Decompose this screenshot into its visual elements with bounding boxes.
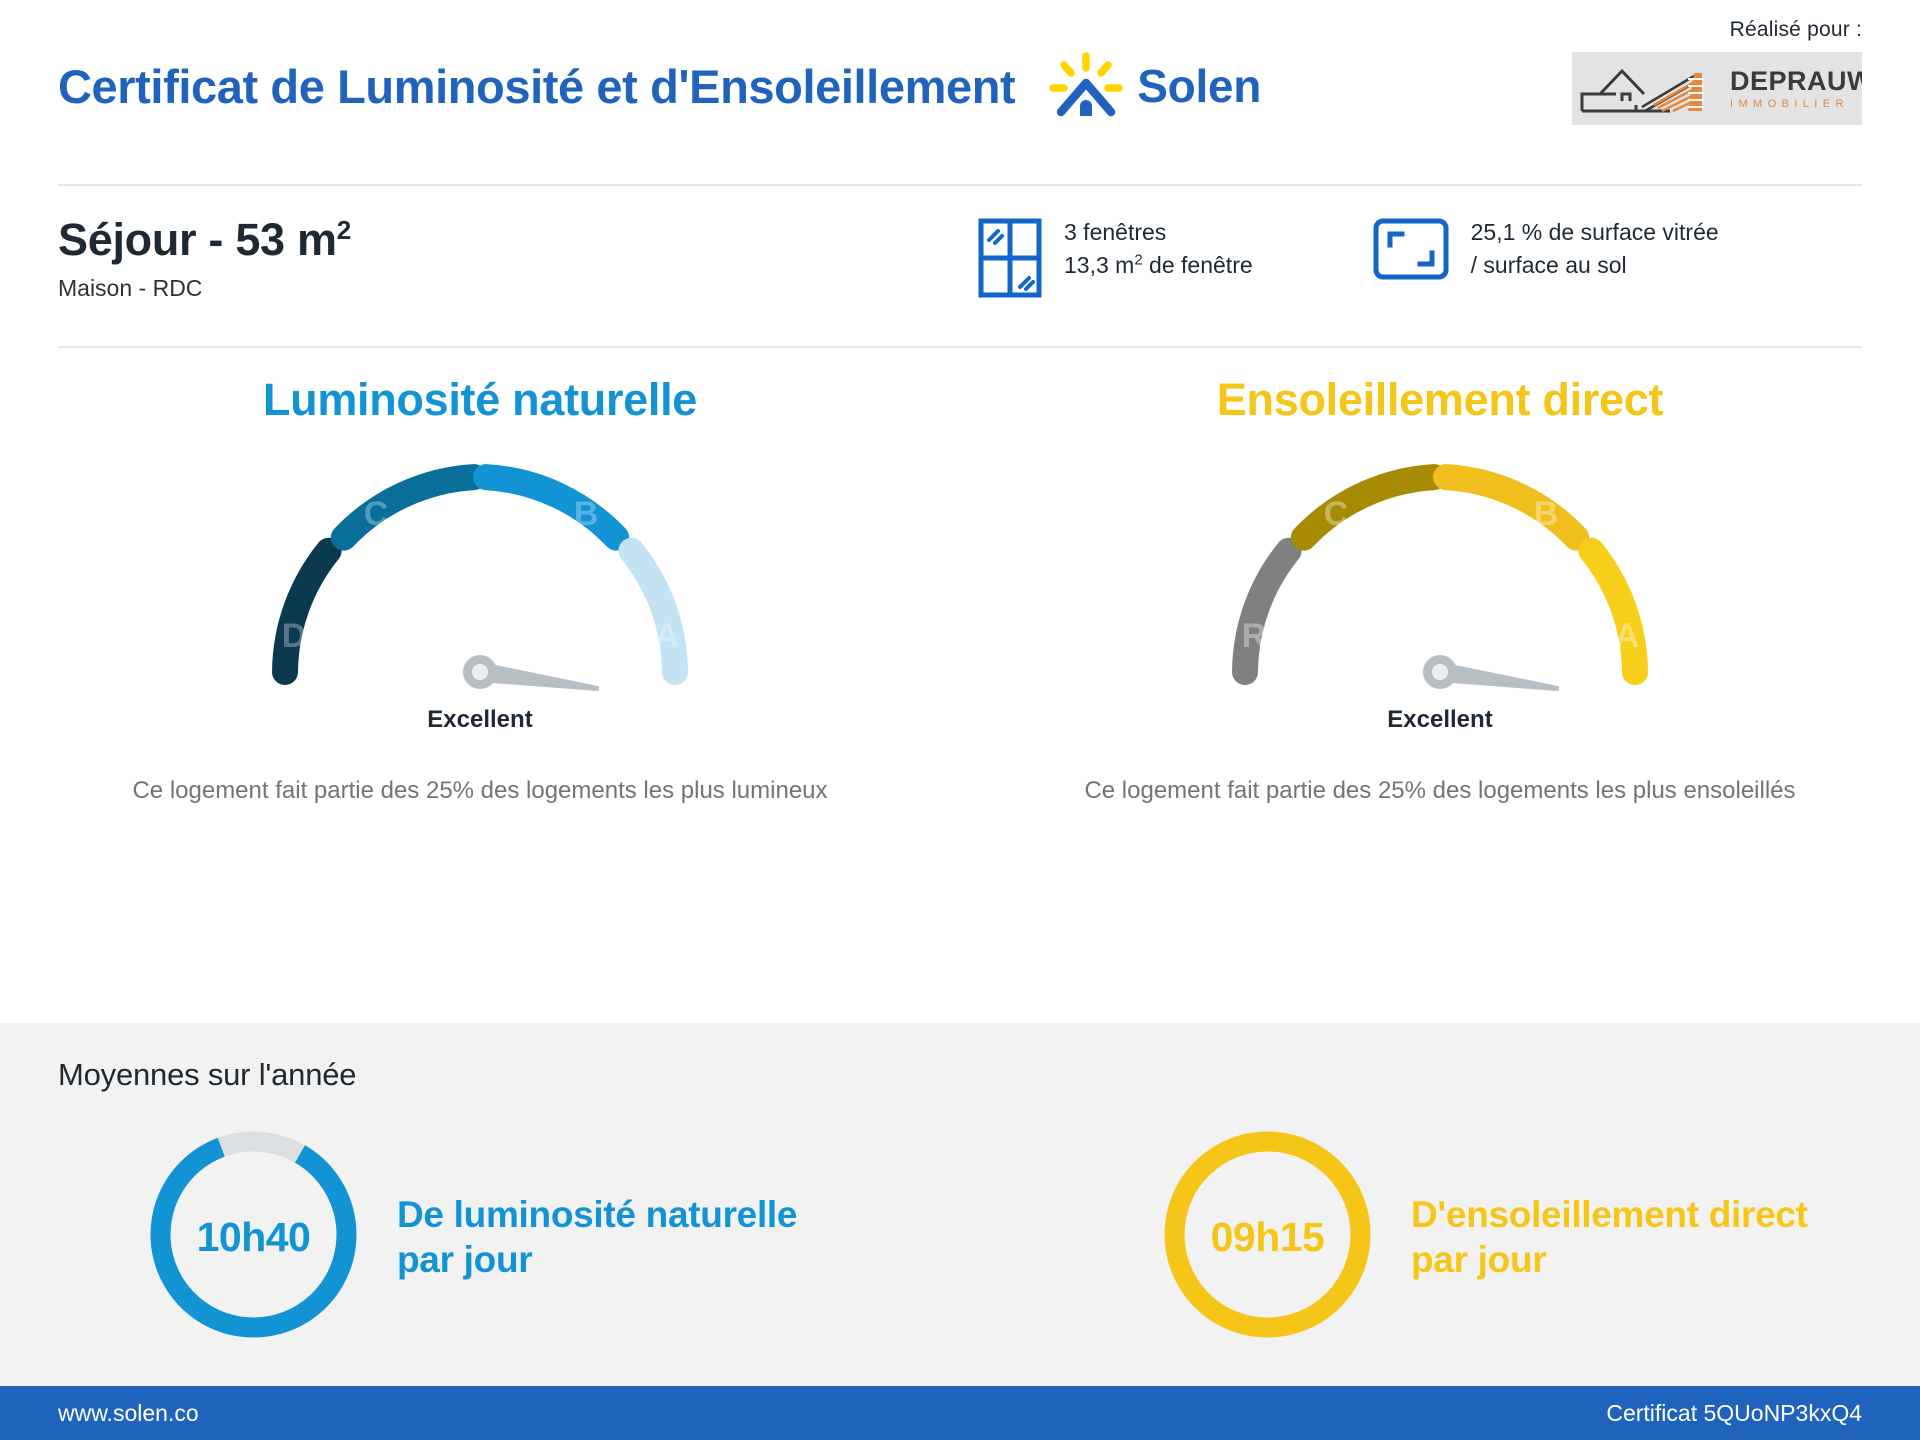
gauge-luminosite-description: Ce logement fait partie des 25% des loge… [100,772,860,809]
donut-ensoleillement-value: 09h15 [1160,1127,1375,1347]
glazing-ratio-stat: 25,1 % de surface vitrée / surface au so… [1373,216,1719,283]
gauge-ensoleillement: Ensoleillement direct R C B A Excellent … [960,374,1920,908]
averages-section: Moyennes sur l'année 10h40 De luminosité… [0,1023,1920,1386]
svg-text:C: C [1324,495,1349,533]
property-summary: Séjour - 53 m2 Maison - RDC 3 fenêtres 1… [0,186,1920,336]
svg-text:B: B [574,495,599,533]
gauge-ensoleillement-chart: R C B A [1190,440,1690,710]
glazing-ratio-line1: 25,1 % de surface vitrée [1471,216,1719,249]
average-luminosite-label: De luminosité naturelle par jour [397,1192,797,1282]
svg-text:A: A [1615,617,1640,655]
room-title-text: Séjour - 53 m [58,214,337,265]
floor-area-icon [1373,218,1449,280]
gauge-ensoleillement-rating: Excellent [1387,706,1492,734]
windows-stat: 3 fenêtres 13,3 m2 de fenêtre [978,216,1253,298]
averages-heading: Moyennes sur l'année [58,1057,1862,1093]
windows-stat-text: 3 fenêtres 13,3 m2 de fenêtre [1064,216,1253,283]
partner-building-icon [1578,61,1728,117]
gauges-section: Luminosité naturelle D C B A Excellent C… [0,348,1920,908]
windows-area-suffix: de fenêtre [1143,252,1253,278]
glazing-ratio-line2: / surface au sol [1471,249,1719,282]
gauge-luminosite-chart: D C B A [230,440,730,710]
donut-ensoleillement: 09h15 [1160,1127,1375,1347]
partner-logo: DEPRAUW IMMOBILIER [1572,52,1862,125]
average-luminosite-label-line1: De luminosité naturelle [397,1192,797,1237]
average-luminosite: 10h40 De luminosité naturelle par jour [58,1127,960,1347]
windows-area-exponent: 2 [1134,252,1142,269]
donut-luminosite-value: 10h40 [146,1127,361,1347]
average-ensoleillement: 09h15 D'ensoleillement direct par jour [960,1127,1862,1347]
gauge-segment-letters: D C B A [282,495,680,655]
room-area-exponent: 2 [337,215,351,245]
average-ensoleillement-label-line2: par jour [1411,1237,1808,1282]
gauge-ensoleillement-description: Ce logement fait partie des 25% des loge… [1060,772,1820,809]
sun-house-icon [1049,52,1123,120]
brand-name: Solen [1137,59,1261,113]
page-header: Réalisé pour : [0,0,1920,160]
windows-area: 13,3 m2 de fenêtre [1064,249,1253,282]
svg-text:C: C [364,495,389,533]
windows-count: 3 fenêtres [1064,216,1253,249]
gauge-segment-letters: R C B A [1242,495,1640,655]
svg-text:B: B [1534,495,1559,533]
window-icon [978,218,1042,298]
gauge-luminosite-needle [461,653,601,706]
footer-website[interactable]: www.solen.co [58,1400,199,1427]
partner-tagline: IMMOBILIER [1730,99,1862,110]
gauge-luminosite-rating: Excellent [427,706,532,734]
svg-text:R: R [1242,617,1267,655]
page-footer: www.solen.co Certificat 5QUoNP3kxQ4 [0,1386,1920,1440]
room-location: Maison - RDC [58,275,978,302]
realise-pour-label: Réalisé pour : [1730,18,1862,42]
gauge-luminosite-title: Luminosité naturelle [263,374,697,426]
average-ensoleillement-label-line1: D'ensoleillement direct [1411,1192,1808,1237]
solen-brand: Solen [1049,52,1261,120]
footer-certificate-id: Certificat 5QUoNP3kxQ4 [1606,1400,1862,1427]
page-title: Certificat de Luminosité et d'Ensoleille… [58,59,1015,114]
average-ensoleillement-label: D'ensoleillement direct par jour [1411,1192,1808,1282]
average-luminosite-label-line2: par jour [397,1237,797,1282]
windows-area-value: 13,3 m [1064,252,1134,278]
gauge-ensoleillement-title: Ensoleillement direct [1217,374,1663,426]
partner-name: DEPRAUW [1730,68,1862,95]
donut-luminosite: 10h40 [146,1127,361,1347]
svg-text:D: D [282,617,307,655]
gauge-ensoleillement-needle [1421,653,1561,706]
svg-text:A: A [655,617,680,655]
room-title: Séjour - 53 m2 [58,216,978,263]
gauge-luminosite: Luminosité naturelle D C B A Excellent C… [0,374,960,908]
glazing-ratio-text: 25,1 % de surface vitrée / surface au so… [1471,216,1719,283]
